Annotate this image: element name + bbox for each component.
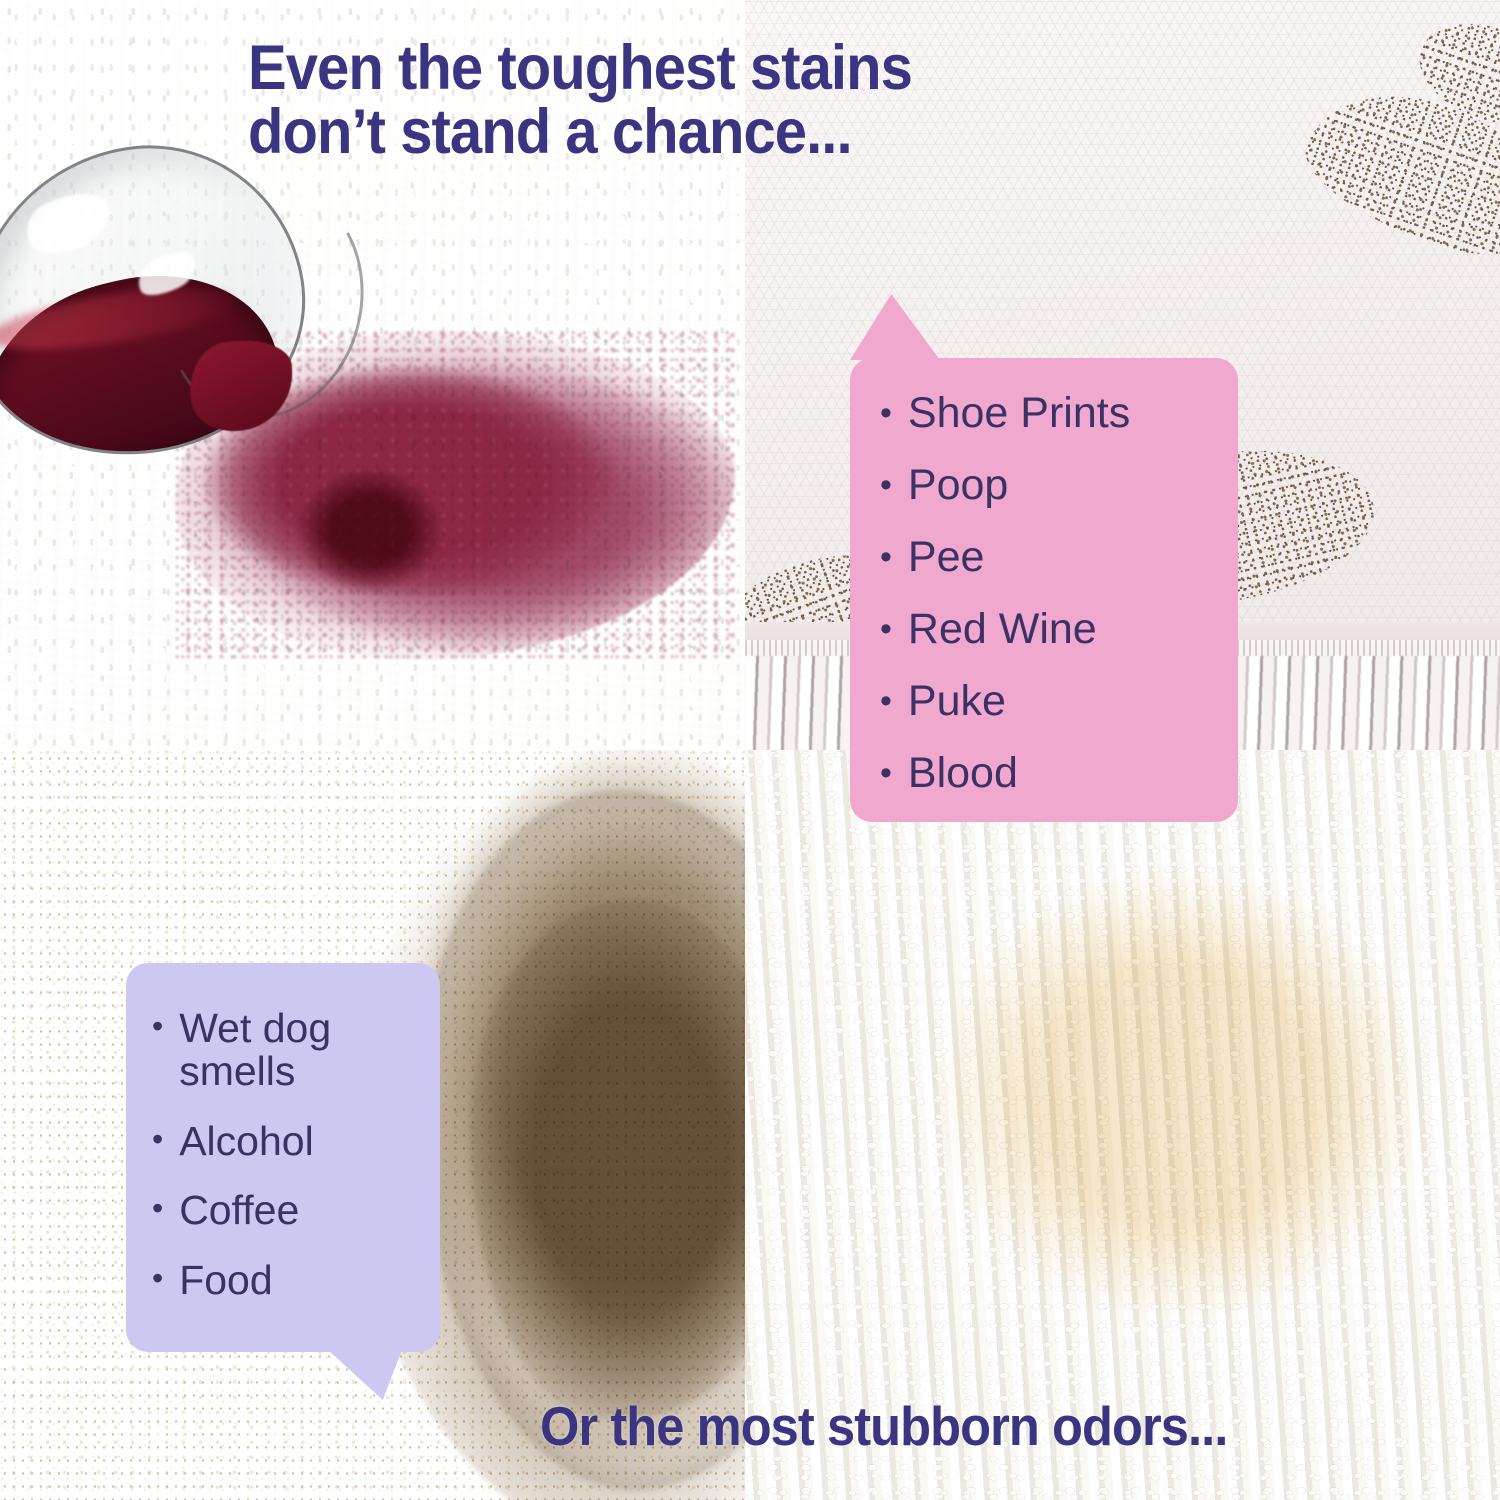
photo-bottom-right-food-stain bbox=[745, 750, 1500, 1500]
stain-list-item-label: Puke bbox=[908, 680, 1006, 723]
odor-list-item-label: Coffee bbox=[179, 1189, 299, 1232]
tipped-wine-glass bbox=[0, 108, 423, 501]
bullet-icon: • bbox=[880, 752, 892, 790]
stain-list-item-label: Red Wine bbox=[908, 608, 1097, 651]
stain-list-item-label: Pee bbox=[908, 536, 985, 579]
bullet-icon: • bbox=[152, 1189, 163, 1224]
bullet-icon: • bbox=[880, 608, 892, 646]
headline-bottom: Or the most stubborn odors... bbox=[540, 1398, 1227, 1454]
odor-list-item: •Food bbox=[152, 1259, 426, 1302]
bullet-icon: • bbox=[880, 680, 892, 718]
stains-list: •Shoe Prints•Poop•Pee•Red Wine•Puke•Bloo… bbox=[850, 358, 1238, 795]
odor-list-item-label: Wet dog smells bbox=[179, 1007, 379, 1094]
stain-list-item: •Pee bbox=[880, 536, 1220, 579]
odor-list-item: •Alcohol bbox=[152, 1120, 426, 1163]
bullet-icon: • bbox=[152, 1120, 163, 1155]
food-stain-chunks bbox=[980, 910, 1380, 1280]
stain-list-item: •Puke bbox=[880, 680, 1220, 723]
bullet-icon: • bbox=[880, 536, 892, 574]
odor-list-item: •Wet dog smells bbox=[152, 1007, 426, 1094]
stain-list-item-label: Blood bbox=[908, 752, 1018, 795]
stain-list-item: •Shoe Prints bbox=[880, 392, 1220, 435]
wine-splash bbox=[300, 470, 440, 590]
bullet-icon: • bbox=[152, 1259, 163, 1294]
stain-odor-infographic: Even the toughest stains don’t stand a c… bbox=[0, 0, 1500, 1500]
headline-top: Even the toughest stains don’t stand a c… bbox=[248, 36, 912, 165]
odors-speech-bubble: •Wet dog smells•Alcohol•Coffee•Food bbox=[126, 963, 440, 1352]
odor-list-item-label: Food bbox=[179, 1259, 272, 1302]
stain-list-item-label: Shoe Prints bbox=[908, 392, 1130, 435]
stain-list-item: •Blood bbox=[880, 752, 1220, 795]
stain-list-item: •Poop bbox=[880, 464, 1220, 507]
stains-speech-bubble: •Shoe Prints•Poop•Pee•Red Wine•Puke•Bloo… bbox=[850, 358, 1238, 822]
glass-highlight-primary bbox=[17, 181, 118, 266]
odor-list-item: •Coffee bbox=[152, 1189, 426, 1232]
stain-list-item: •Red Wine bbox=[880, 608, 1220, 651]
stain-list-item-label: Poop bbox=[908, 464, 1008, 507]
bullet-icon: • bbox=[880, 464, 892, 502]
odors-list: •Wet dog smells•Alcohol•Coffee•Food bbox=[126, 963, 440, 1302]
odor-list-item-label: Alcohol bbox=[179, 1120, 313, 1163]
bullet-icon: • bbox=[880, 392, 892, 430]
bullet-icon: • bbox=[152, 1007, 163, 1042]
